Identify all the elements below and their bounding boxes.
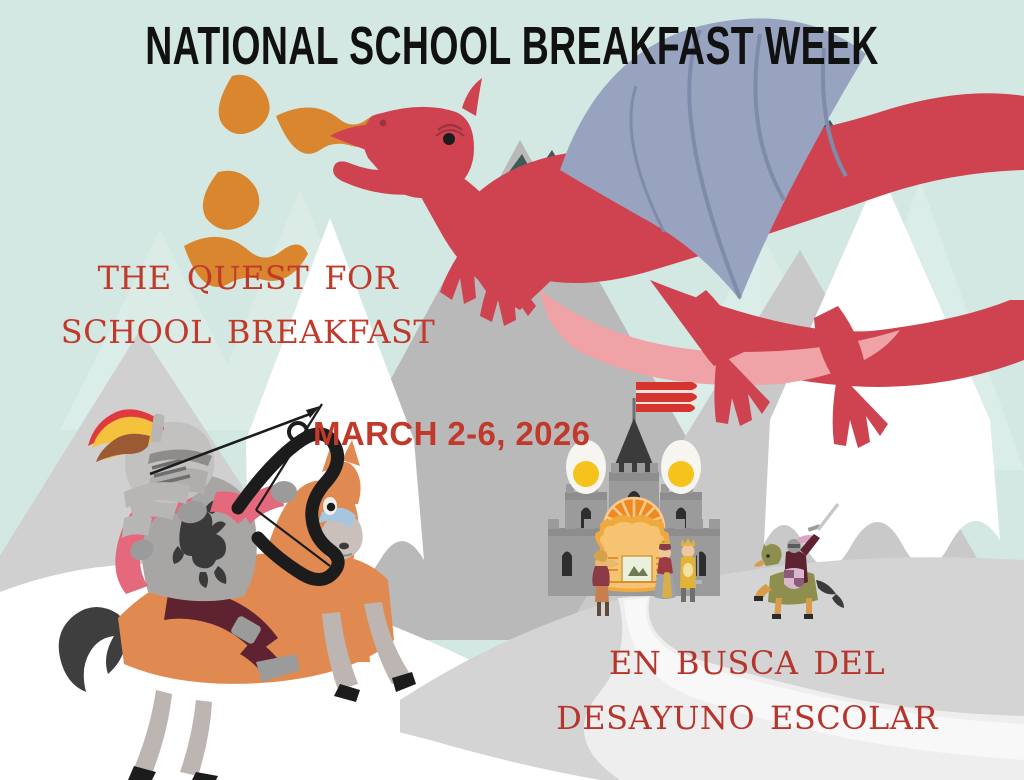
scene-illustration xyxy=(0,0,1024,780)
bacon-stripe-flag xyxy=(636,382,697,412)
poster-canvas: NATIONAL SCHOOL BREAKFAST WEEK the quest… xyxy=(0,0,1024,780)
fried-egg-turret-left xyxy=(566,440,606,494)
fried-egg-turret-right xyxy=(661,440,701,494)
